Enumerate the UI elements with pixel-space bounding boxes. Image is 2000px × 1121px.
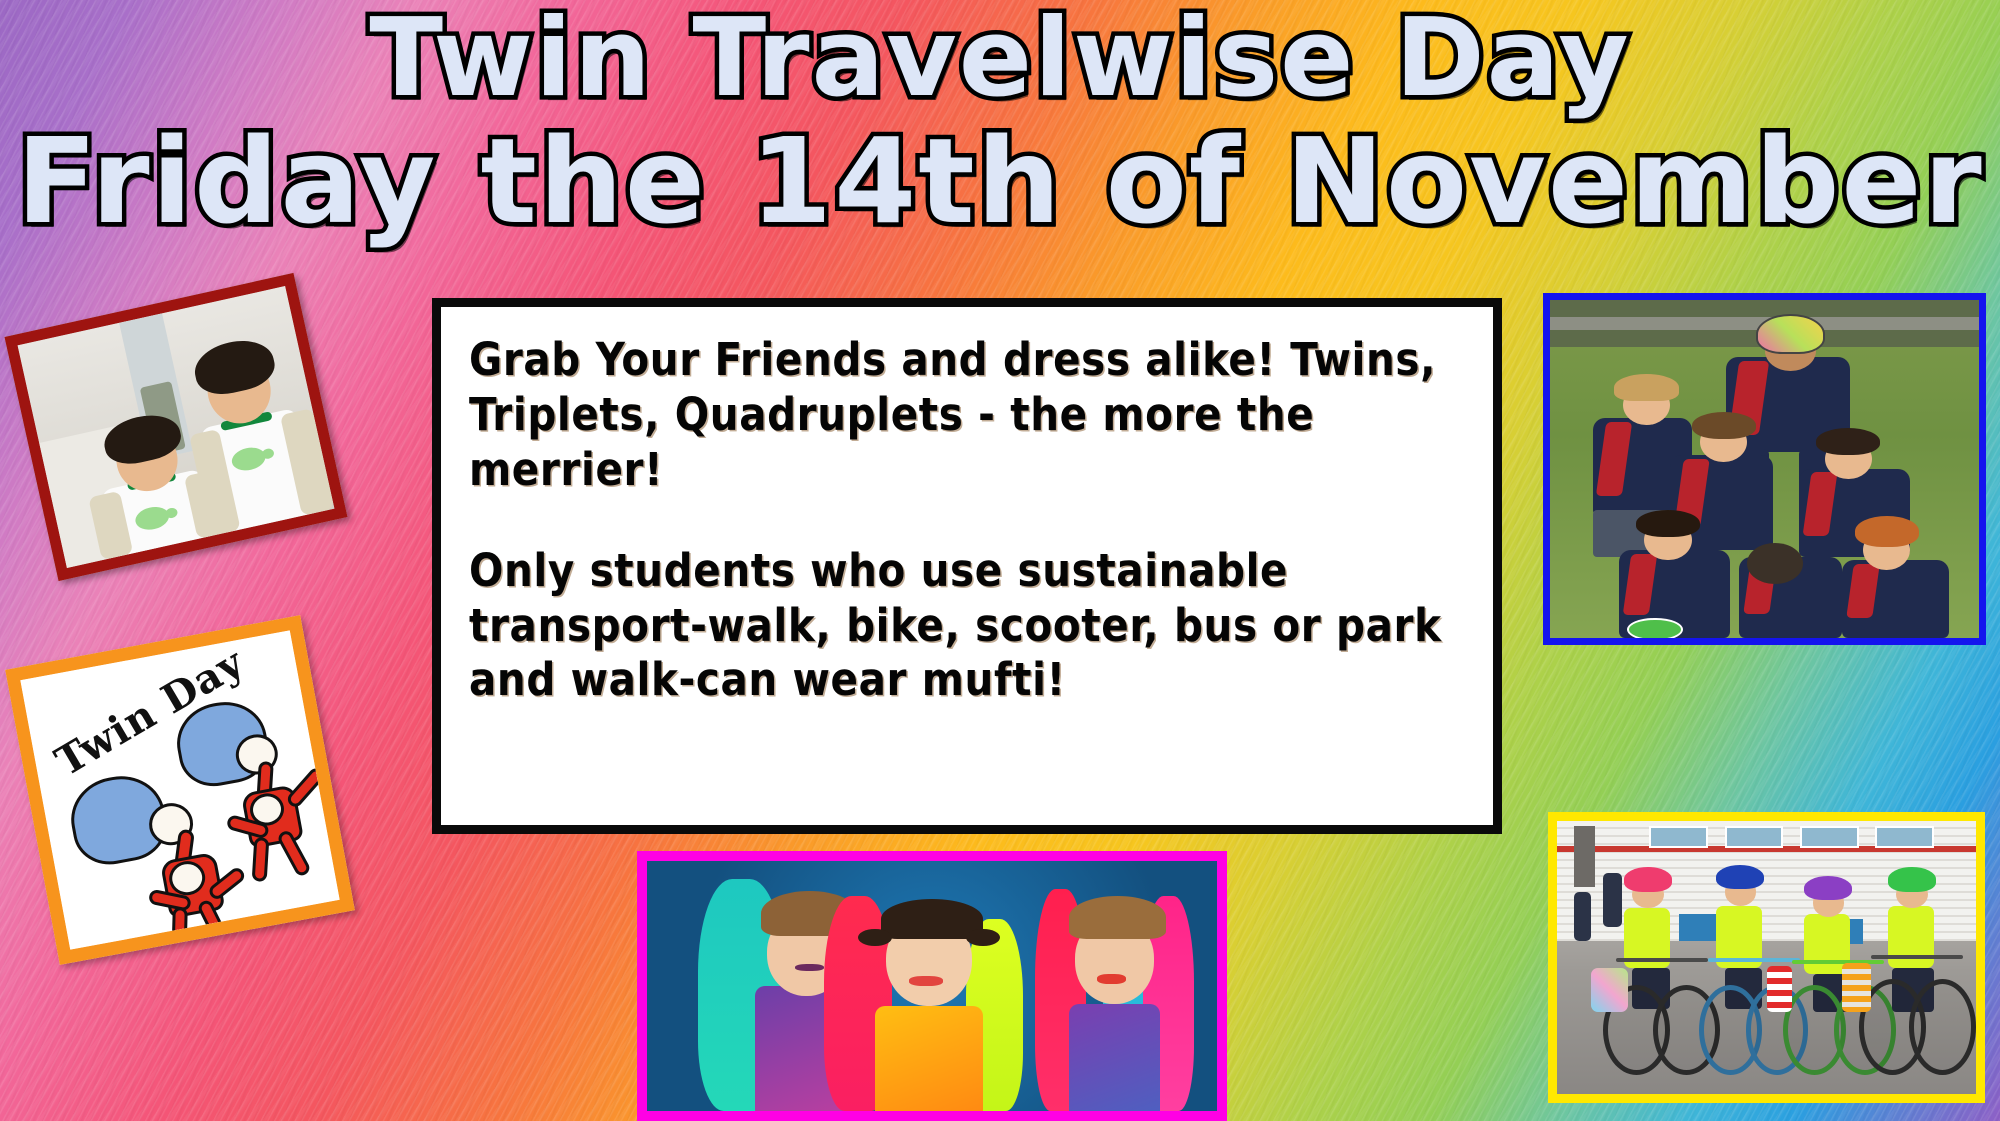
photo-bike-group xyxy=(1548,812,1985,1103)
announcement-paragraph-1: Grab Your Friends and dress alike! Twins… xyxy=(469,333,1467,498)
photo-rainbow-hair-image xyxy=(647,861,1217,1111)
photo-rugby-team-image xyxy=(1550,300,1979,638)
photo-twin-boys-image xyxy=(18,286,335,568)
twin-day-illustration: Twin Day xyxy=(20,630,339,949)
photo-rainbow-hair xyxy=(637,851,1227,1121)
photo-twin-boys xyxy=(4,273,347,581)
photo-rugby-team xyxy=(1543,293,1986,645)
announcement-paragraph-2: Only students who use sustainable transp… xyxy=(469,544,1467,709)
title-line-2: Friday the 14th of November xyxy=(0,124,2000,240)
announcement-panel: Grab Your Friends and dress alike! Twins… xyxy=(432,298,1502,834)
photo-bike-group-image xyxy=(1557,821,1976,1094)
title-line-1: Twin Travelwise Day xyxy=(0,6,2000,112)
page-title: Twin Travelwise Day Friday the 14th of N… xyxy=(0,6,2000,239)
photo-twin-day-card: Twin Day xyxy=(5,615,355,965)
poster-canvas: Twin Travelwise Day Friday the 14th of N… xyxy=(0,0,2000,1121)
